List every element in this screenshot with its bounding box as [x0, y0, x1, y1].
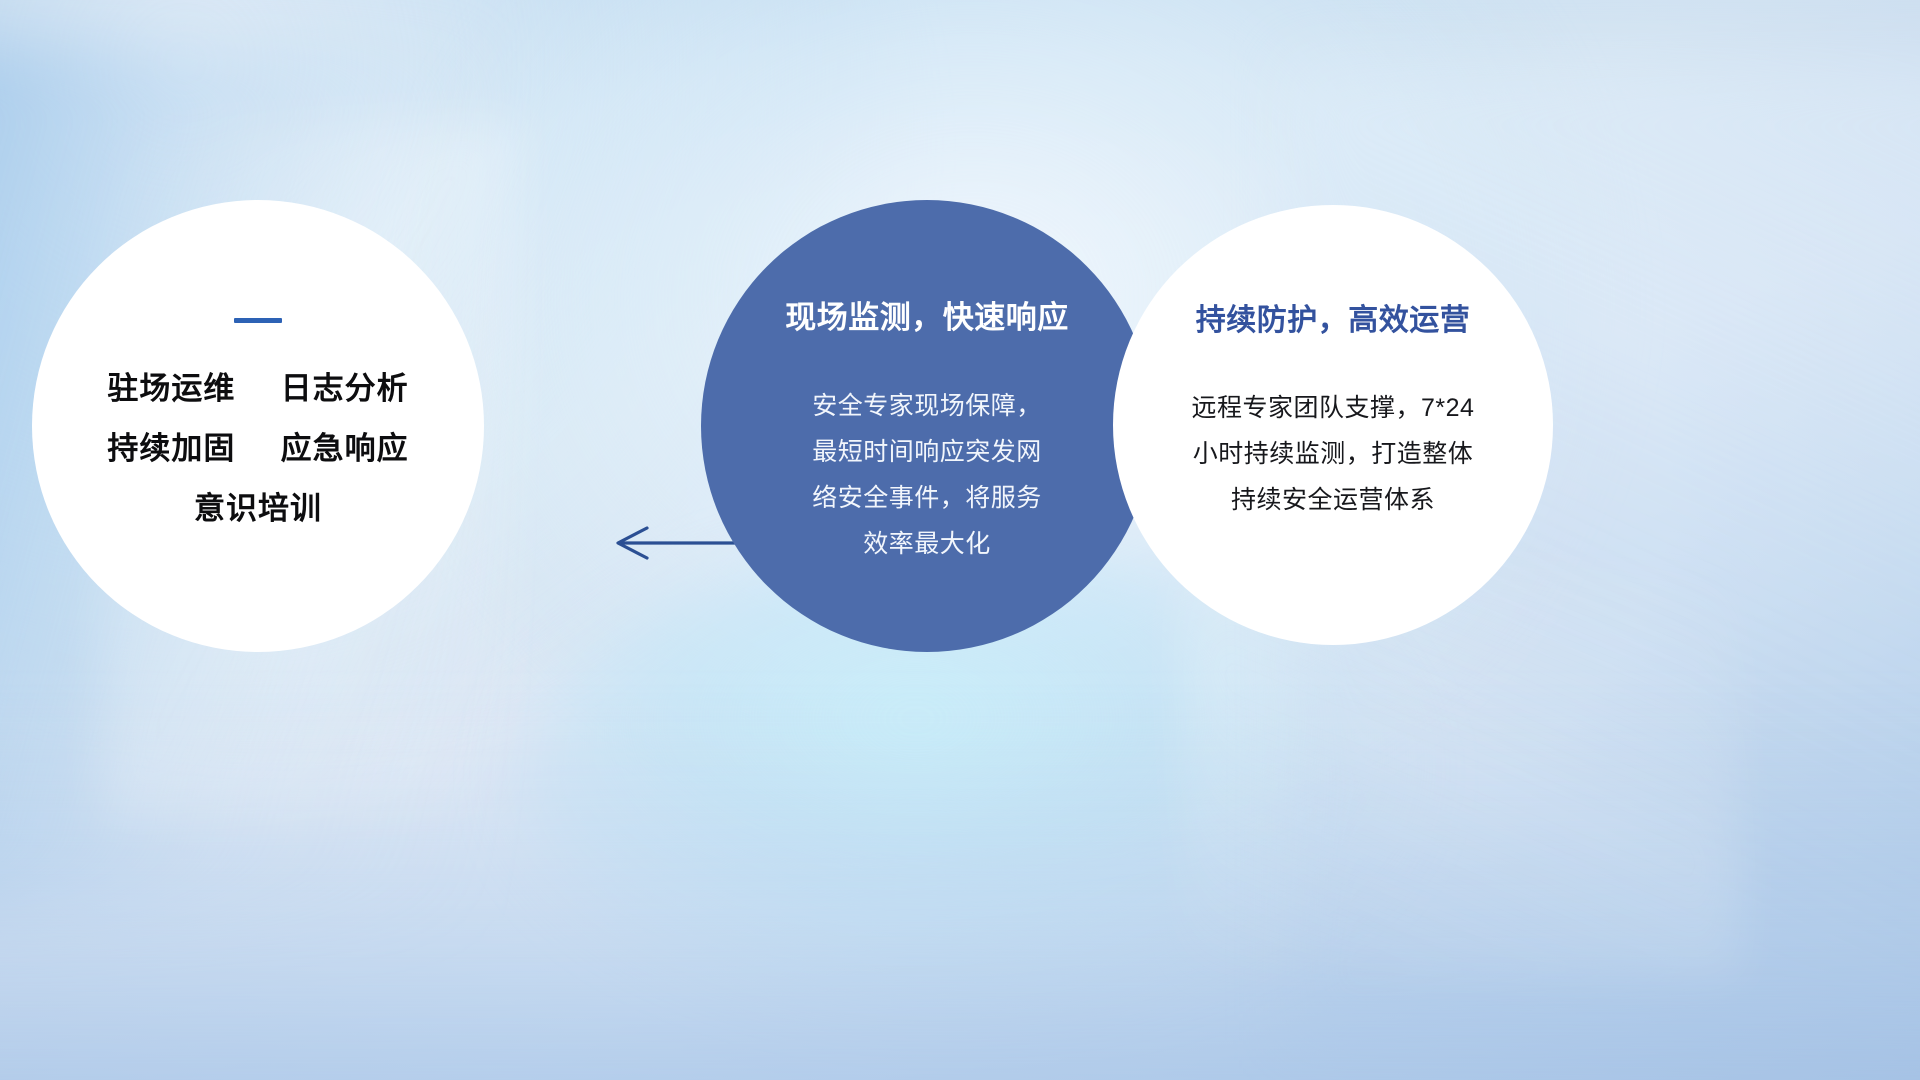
capability-card-right: 持续防护，高效运营 远程专家团队支撑，7*24 小时持续监测，打造整体 持续安全… [1113, 205, 1553, 645]
body-line: 安全专家现场保障， [777, 383, 1077, 429]
capability-card-middle: 现场监测，快速响应 安全专家现场保障， 最短时间响应突发网 络安全事件，将服务 … [701, 200, 1153, 652]
body-line: 络安全事件，将服务 [777, 475, 1077, 521]
body-line: 远程专家团队支撑，7*24 [1150, 385, 1516, 431]
body-line: 最短时间响应突发网 [777, 429, 1077, 475]
capability-label: 日志分析 [281, 371, 409, 406]
list-item: 持续加固 应急响应 [107, 419, 408, 479]
capability-label: 应急响应 [281, 431, 409, 466]
card-title: 持续防护，高效运营 [1196, 295, 1471, 339]
dash-divider-icon [234, 318, 282, 323]
body-line: 持续安全运营体系 [1150, 477, 1516, 523]
body-line: 效率最大化 [777, 521, 1077, 567]
card-title: 现场监测，快速响应 [785, 292, 1069, 337]
capability-list: 驻场运维 日志分析 持续加固 应急响应 意识培训 [107, 359, 408, 539]
capability-card-left: 驻场运维 日志分析 持续加固 应急响应 意识培训 [32, 200, 484, 652]
capability-label: 持续加固 [107, 431, 235, 466]
card-body: 远程专家团队支撑，7*24 小时持续监测，打造整体 持续安全运营体系 [1150, 385, 1516, 523]
capability-label: 意识培训 [194, 491, 322, 526]
card-body: 安全专家现场保障， 最短时间响应突发网 络安全事件，将服务 效率最大化 [777, 383, 1077, 567]
list-item: 意识培训 [107, 479, 408, 539]
slide-canvas: 驻场运维 日志分析 持续加固 应急响应 意识培训 现场监测，快速响应 安全专家现… [0, 0, 1920, 1080]
body-line: 小时持续监测，打造整体 [1150, 431, 1516, 477]
list-item: 驻场运维 日志分析 [107, 359, 408, 419]
capability-label: 驻场运维 [107, 371, 235, 406]
